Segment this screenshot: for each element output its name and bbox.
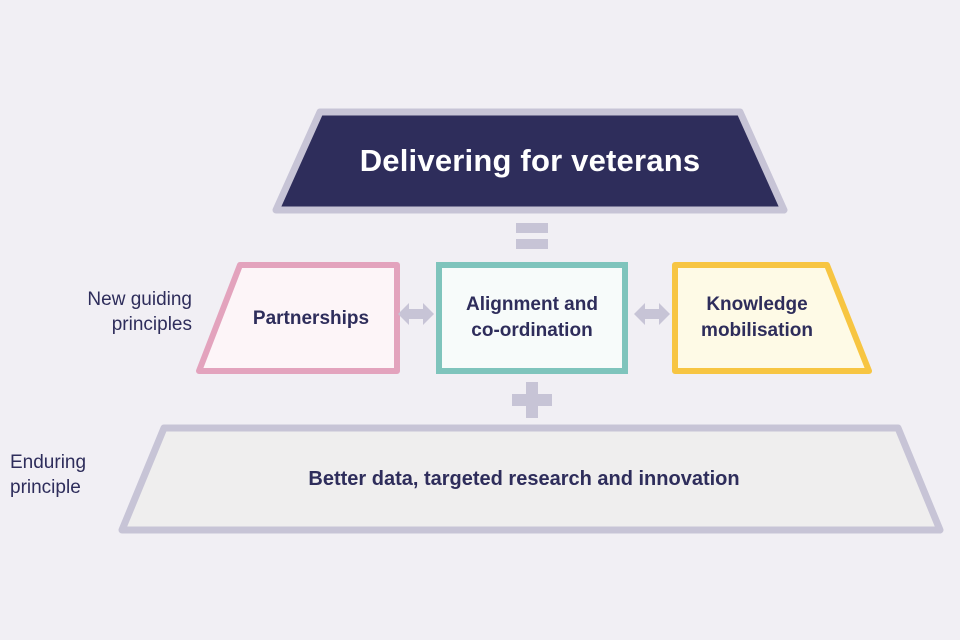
left-right-arrow-icon: [634, 298, 670, 330]
double-arrow-path: [634, 303, 670, 325]
alignment-shape: [436, 262, 628, 374]
plus-path: [512, 382, 552, 418]
arrow-alignment-knowledge: [634, 298, 670, 330]
plus-sign-icon: [512, 382, 552, 418]
trapezoid-path: [122, 428, 940, 530]
top-banner-shape: [272, 108, 788, 214]
plus-connector: [512, 382, 552, 418]
diagram-canvas: New guiding principles Enduring principl…: [0, 0, 960, 640]
left-right-arrow-icon: [398, 298, 434, 330]
double-arrow-path: [398, 303, 434, 325]
principle-card-alignment: Alignment and co-ordination: [436, 262, 628, 374]
partnerships-shape: [196, 262, 400, 374]
bottom-banner-shape: [118, 424, 944, 534]
inverted-trapezoid-path: [276, 112, 784, 210]
top-banner-delivering-for-veterans: Delivering for veterans: [272, 108, 788, 214]
principle-card-knowledge: Knowledge mobilisation: [672, 262, 872, 374]
equals-bar-bottom: [516, 239, 548, 249]
rectangle-path: [439, 265, 625, 371]
side-label-new-guiding-principles: New guiding principles: [0, 287, 192, 337]
equals-connector: [512, 222, 552, 250]
equals-bar-top: [516, 223, 548, 233]
arrow-partnerships-alignment: [398, 298, 434, 330]
equals-sign-icon: [512, 222, 552, 250]
trapezoid-right-slant-path: [675, 265, 869, 371]
trapezoid-left-slant-path: [199, 265, 397, 371]
knowledge-shape: [672, 262, 872, 374]
principle-card-partnerships: Partnerships: [196, 262, 400, 374]
bottom-banner-enduring-principle: Better data, targeted research and innov…: [118, 424, 944, 534]
